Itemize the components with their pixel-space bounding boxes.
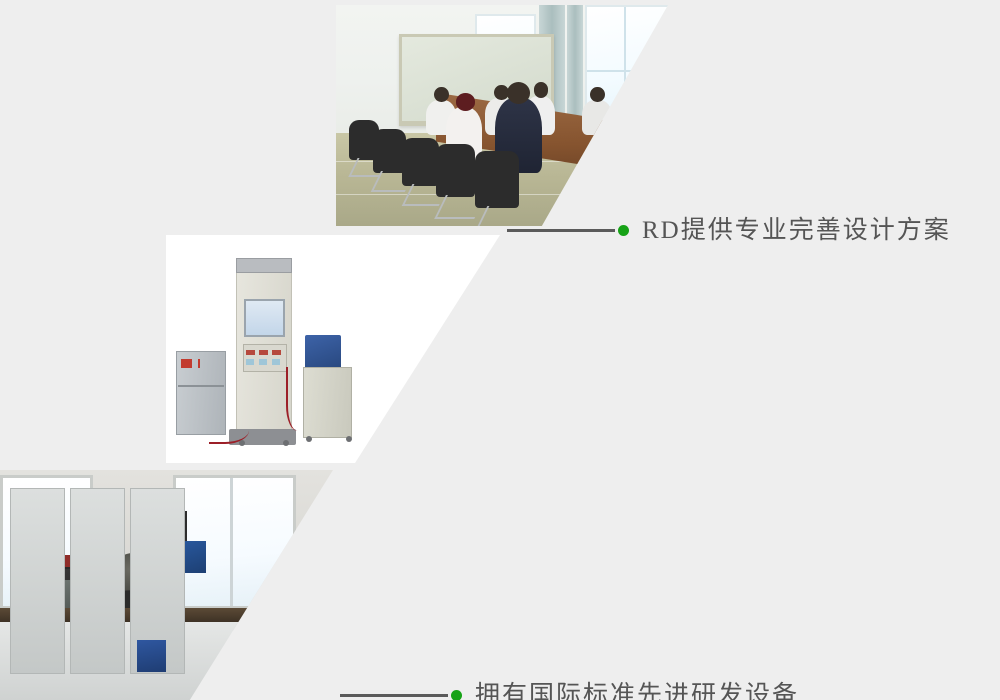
caption-rule	[507, 229, 615, 232]
equipment-scene	[166, 235, 500, 463]
caster-wheel	[306, 436, 312, 442]
meeting-room-scene	[336, 5, 668, 226]
caption-label: RD提供专业完善设计方案	[642, 218, 951, 243]
office-chair	[373, 129, 406, 173]
attendee	[582, 100, 612, 135]
blue-bin	[137, 640, 167, 672]
lab-bench-scene	[0, 470, 333, 700]
rack-header-panel	[236, 258, 291, 274]
attendee-head	[534, 82, 549, 97]
red-cable	[286, 367, 315, 431]
panel-meeting: RD提供专业完善设计方案	[336, 5, 668, 226]
office-chair	[402, 138, 439, 187]
cabinet-door	[10, 488, 65, 674]
office-chair	[475, 151, 518, 208]
caption-rule	[340, 694, 448, 697]
cabinet-door	[70, 488, 125, 674]
rack-monitor	[244, 299, 285, 337]
meeting-room-photo	[336, 5, 668, 226]
attendee-head	[434, 87, 449, 102]
caption-label: 拥有国际标准先进研发设备	[475, 683, 799, 700]
panel-equipment: 拥有国际标准先进研发设备	[166, 235, 500, 463]
caption-dot-icon	[618, 225, 629, 236]
rd-test-equipment-photo	[166, 235, 500, 463]
caster-wheel	[346, 436, 352, 442]
panel-bench: 规范的研发项目管理体系	[0, 470, 333, 700]
rack-control-panel	[243, 344, 287, 371]
rd-lab-bench-photo	[0, 470, 333, 700]
attendee-head	[590, 87, 605, 102]
attendee-head	[630, 96, 645, 111]
office-chair	[436, 144, 476, 197]
rd-capability-banner: RD提供专业完善设计方案	[0, 0, 1000, 700]
caption-meeting: RD提供专业完善设计方案	[507, 218, 951, 243]
caster-wheel	[283, 440, 289, 446]
caster-wheel	[239, 440, 245, 446]
caption-equipment: 拥有国际标准先进研发设备	[340, 683, 799, 700]
attendee	[622, 109, 652, 144]
caption-dot-icon	[451, 690, 462, 700]
